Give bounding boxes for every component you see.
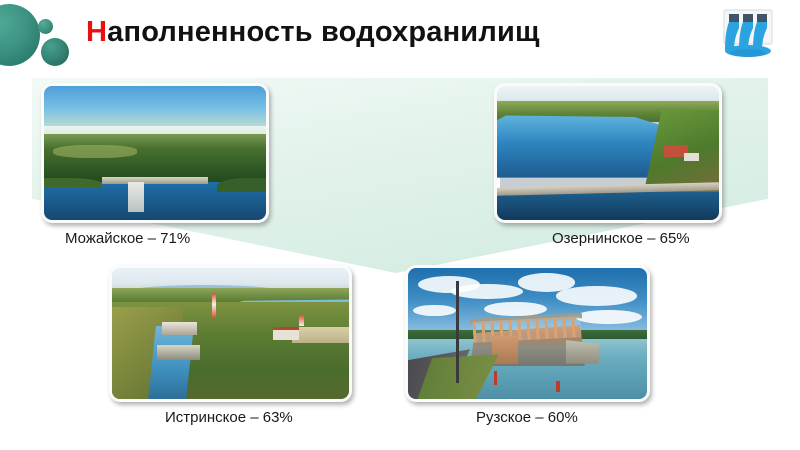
right-shoreline bbox=[217, 178, 266, 191]
red-bollard bbox=[556, 381, 559, 393]
red-bollard bbox=[494, 371, 497, 384]
light-pole bbox=[456, 281, 459, 383]
cloud bbox=[556, 286, 637, 306]
lock-gate-lower bbox=[157, 345, 200, 359]
photo-artwork-istrinskoye bbox=[112, 268, 349, 399]
photo-artwork-ruzskoye bbox=[408, 268, 647, 399]
field-patch bbox=[292, 327, 349, 343]
retaining-wall bbox=[566, 340, 599, 364]
caption-ruzskoye: Рузское – 60% bbox=[476, 409, 578, 426]
caption-ozerninskoye: Озернинское – 65% bbox=[552, 230, 690, 247]
decorative-circle-large bbox=[0, 4, 40, 66]
title-accent-letter: Н bbox=[86, 16, 107, 48]
slide-canvas: Наполненность водохранилищ Мо bbox=[0, 0, 800, 450]
photo-card-mozhayskoye[interactable] bbox=[41, 83, 269, 223]
decorative-circles-group bbox=[0, 0, 90, 80]
photo-card-ruzskoye[interactable] bbox=[405, 265, 650, 402]
foreground-water bbox=[497, 192, 719, 220]
decorative-circle-small bbox=[38, 19, 53, 34]
hydro-dam-logo bbox=[718, 6, 778, 64]
building-white bbox=[684, 153, 700, 161]
photo-artwork-ozerninskoye bbox=[497, 86, 719, 220]
striped-tower-short bbox=[299, 315, 304, 325]
decorative-circle-medium bbox=[41, 38, 69, 66]
canal-water bbox=[148, 326, 194, 399]
photo-card-ozerninskoye[interactable] bbox=[494, 83, 722, 223]
clearing-patch bbox=[53, 145, 137, 158]
page-title: Наполненность водохранилищ bbox=[86, 16, 540, 49]
photo-artwork-mozhayskoye bbox=[44, 86, 266, 220]
photo-card-istrinskoye[interactable] bbox=[109, 265, 352, 402]
title-remainder: аполненность водохранилищ bbox=[107, 16, 540, 48]
left-shoreline bbox=[44, 178, 102, 187]
caption-mozhayskoye: Можайское – 71% bbox=[65, 230, 190, 247]
forest-layer bbox=[44, 134, 266, 182]
house-body bbox=[273, 330, 299, 340]
dam-crest bbox=[102, 177, 209, 184]
caption-istrinskoye: Истринское – 63% bbox=[165, 409, 293, 426]
spillway bbox=[128, 182, 144, 211]
lock-gate-upper bbox=[162, 322, 198, 335]
striped-tower-tall bbox=[212, 293, 217, 318]
